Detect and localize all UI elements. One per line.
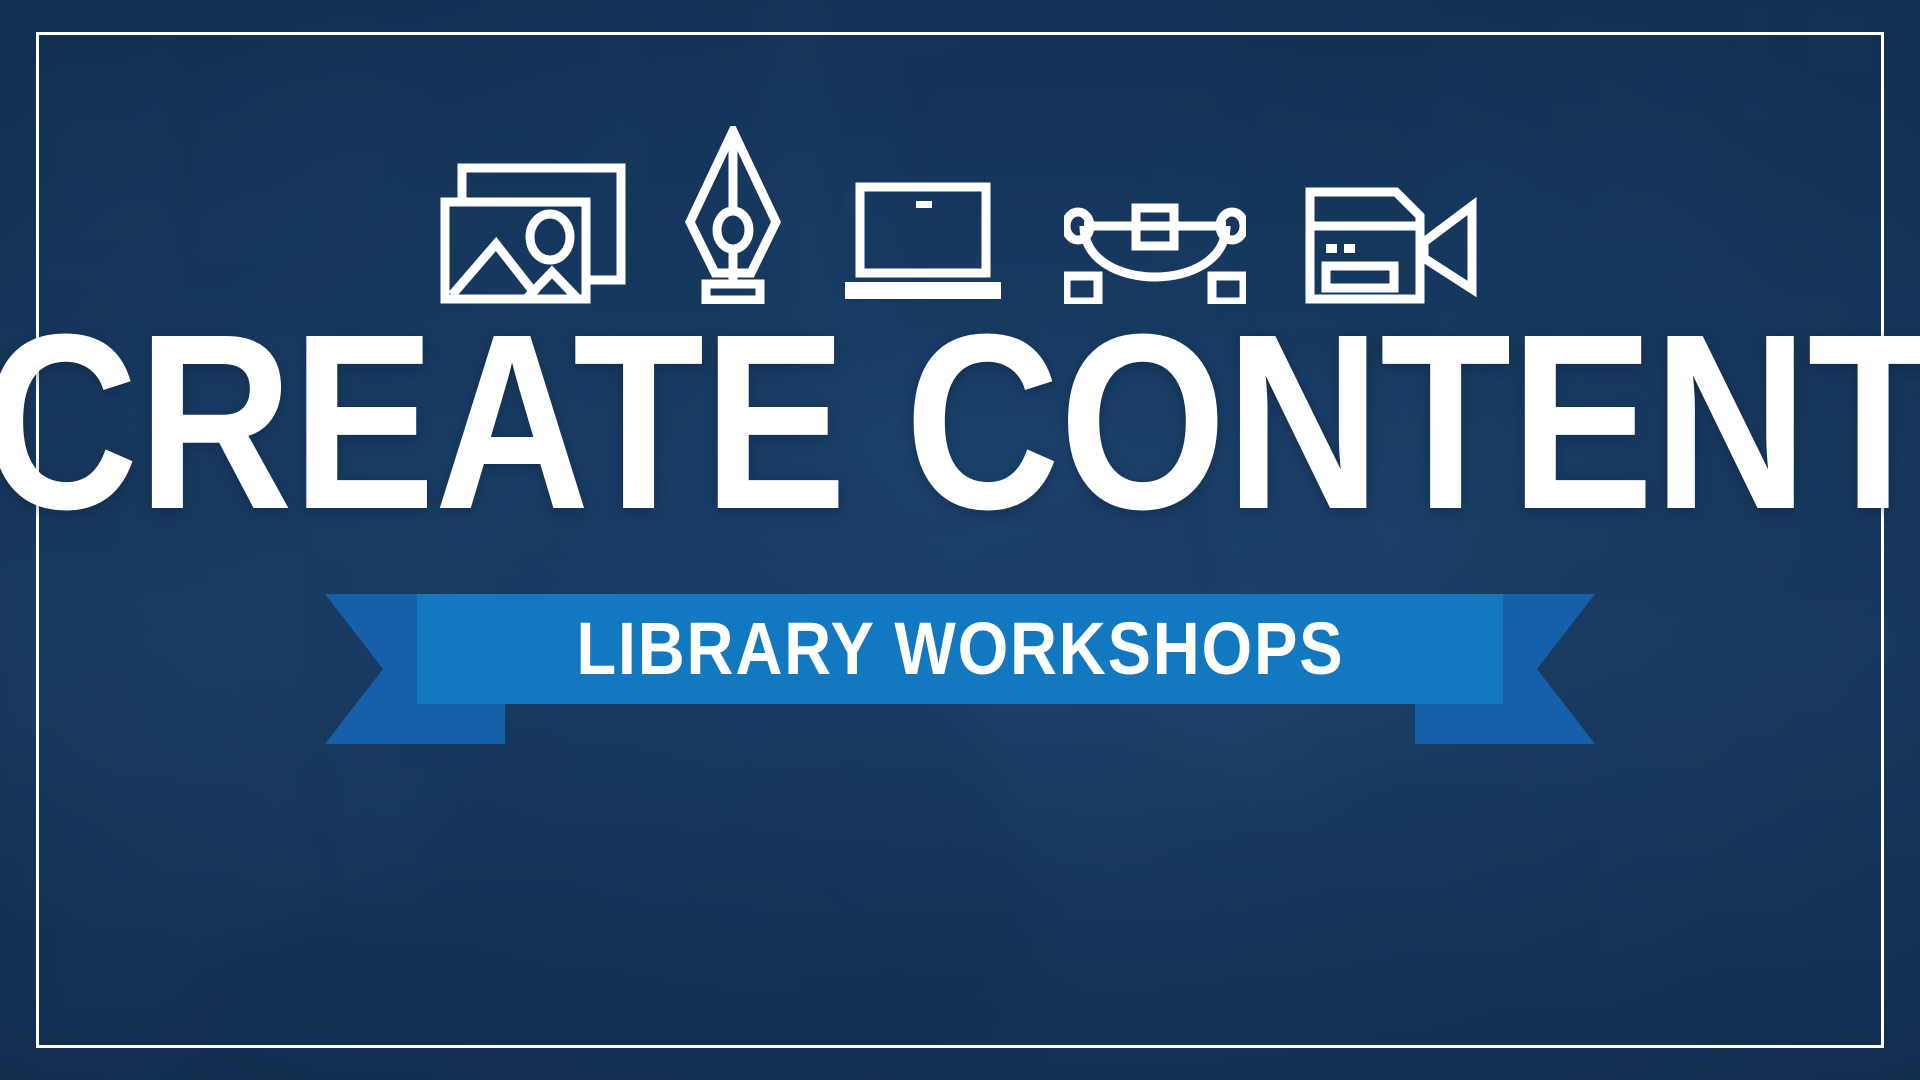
poster-content: CREATE CONTENT [0,0,1920,1080]
pen-nib-icon [684,126,782,304]
ribbon-banner: LIBRARY WORKSHOPS [0,594,1920,744]
poster-canvas: CREATE CONTENT LIBRARY WORKSHOPS [0,0,1920,1080]
ribbon-label: LIBRARY WORKSHOPS [576,612,1344,686]
page-title: CREATE CONTENT [0,322,1920,522]
icon-row [440,124,1480,304]
ribbon-band: LIBRARY WORKSHOPS [417,594,1503,704]
